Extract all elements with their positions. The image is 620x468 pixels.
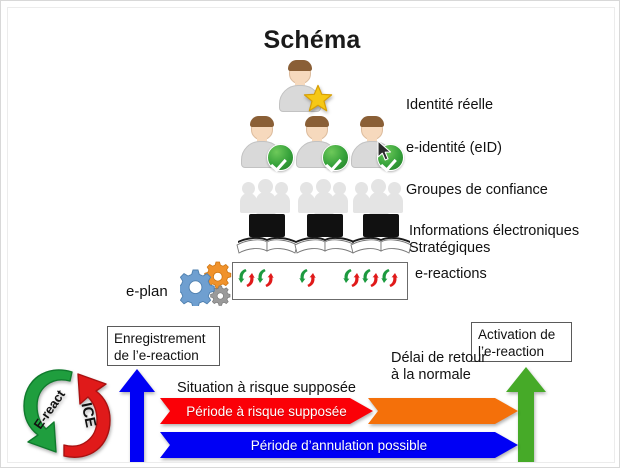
arrow-up-enregistrement	[118, 368, 156, 463]
page-title: Schéma	[8, 26, 615, 55]
arrow-periode-risque-label: Période à risque supposée	[160, 398, 373, 424]
open-book-icon	[350, 236, 412, 256]
person-eid-3	[348, 116, 396, 168]
e-reaction-pair-icon	[343, 268, 360, 288]
box-activation: Activation de l’e-reaction	[471, 322, 572, 362]
box-enregistrement-line2: de l’e-reaction	[114, 348, 213, 365]
person-hair-icon	[288, 60, 312, 71]
arrow-delai-retour-label	[368, 398, 518, 424]
gear-blue-icon	[180, 270, 214, 306]
person-hair-icon	[305, 116, 329, 127]
laptop-screen-icon	[249, 214, 285, 237]
caption-situation-risque: Situation à risque supposée	[177, 380, 356, 398]
person-eid-2	[293, 116, 341, 168]
box-enregistrement: Enregistrement de l’e-reaction	[107, 326, 220, 366]
diagram-canvas: Schéma	[7, 7, 615, 463]
person-identity-real	[276, 60, 324, 112]
laptop-screen-icon	[307, 214, 343, 237]
group-icon-2	[298, 178, 354, 214]
laptop-screen-icon	[363, 214, 399, 237]
label-strategiques: Stratégiques	[409, 240, 490, 258]
person-hair-icon	[360, 116, 384, 127]
label-informations: Informations électroniques	[409, 223, 579, 241]
e-reaction-pair-icon	[238, 268, 255, 288]
group-icon-1	[240, 178, 296, 214]
arrow-delai-retour	[368, 398, 518, 424]
label-groupes-confiance: Groupes de confiance	[406, 182, 548, 200]
arrow-periode-annulation: Période d’annulation possible	[160, 432, 518, 458]
label-e-identite: e-identité (eID)	[406, 140, 502, 158]
check-badge-icon	[322, 144, 349, 171]
group-icon-3	[353, 178, 409, 214]
label-identite-reelle: Identité réelle	[406, 97, 493, 115]
e-reactions-box	[232, 262, 408, 300]
label-e-plan: e-plan	[126, 283, 168, 301]
e-react-ice-logo: E-react ICE	[16, 366, 116, 462]
check-badge-icon	[267, 144, 294, 171]
arrow-periode-annulation-label: Période d’annulation possible	[160, 432, 518, 458]
e-reaction-pair-icon	[299, 268, 316, 288]
arrow-periode-risque: Période à risque supposée	[160, 398, 373, 424]
box-activation-line1: Activation de	[478, 327, 565, 344]
caption-delai-line2: à la normale	[391, 367, 471, 385]
laptop-book-icon-1	[236, 214, 298, 256]
open-book-icon	[294, 236, 356, 256]
e-reaction-pair-icon	[257, 268, 274, 288]
mouse-cursor-icon	[377, 140, 393, 162]
label-e-reactions: e-reactions	[415, 266, 487, 284]
image-frame: Schéma	[0, 0, 620, 468]
person-eid-1	[238, 116, 286, 168]
e-reaction-pair-icon	[362, 268, 379, 288]
caption-delai-line1: Délai de retour	[391, 350, 486, 368]
box-enregistrement-line1: Enregistrement	[114, 331, 213, 348]
box-activation-line2: l’e-reaction	[478, 344, 565, 361]
gears-icon	[180, 260, 235, 306]
laptop-book-icon-3	[350, 214, 412, 256]
e-reaction-pair-icon	[381, 268, 398, 288]
person-hair-icon	[250, 116, 274, 127]
open-book-icon	[236, 236, 298, 256]
laptop-book-icon-2	[294, 214, 356, 256]
star-icon	[303, 84, 333, 114]
